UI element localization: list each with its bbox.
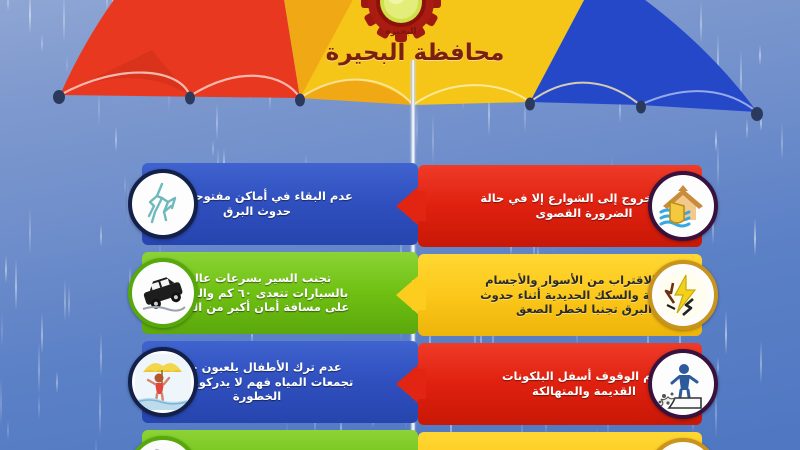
tips-column-left: عدم البقاء في أماكن مفتوحة أثناء حدوث ال… xyxy=(128,163,418,450)
skidding-car-icon xyxy=(128,258,198,328)
tip-row: عدم الاقتراب أو لمس أعمدة xyxy=(128,430,418,450)
infographic-canvas: البحيرة محافظة البحيرة عدم البقاء في أما… xyxy=(0,0,800,450)
tip-row: عدم الاقتراب من الأسوار والأجسام المعدني… xyxy=(418,254,718,336)
child-playing-in-water-icon xyxy=(128,347,198,417)
tip-row: عدم ترك الأطفال يلعبون حول تجمعات المياه… xyxy=(128,341,418,423)
tip-row: عدم الخروج إلى الشوارع إلا في حالة الضرو… xyxy=(418,165,718,247)
electric-shock-icon xyxy=(648,260,718,330)
tip-row: عدم البقاء في أماكن مفتوحة أثناء حدوث ال… xyxy=(128,163,418,245)
house-flood-shield-icon xyxy=(648,171,718,241)
tip-row: تجنب السير بسرعات عالية بالسيارات تتعدى … xyxy=(128,252,418,334)
lightning-bolt-icon xyxy=(128,169,198,239)
crumbling-balcony-icon xyxy=(648,349,718,419)
tip-row: عدم ركن السيارات تحت xyxy=(418,432,718,450)
tip-row: عدم الوقوف أسفل البلكونات القديمة والمته… xyxy=(418,343,718,425)
tips-column-right: عدم الخروج إلى الشوارع إلا في حالة الضرو… xyxy=(418,165,718,450)
page-title: محافظة البحيرة xyxy=(300,40,530,66)
logo-inner-text: البحيرة xyxy=(385,27,416,37)
